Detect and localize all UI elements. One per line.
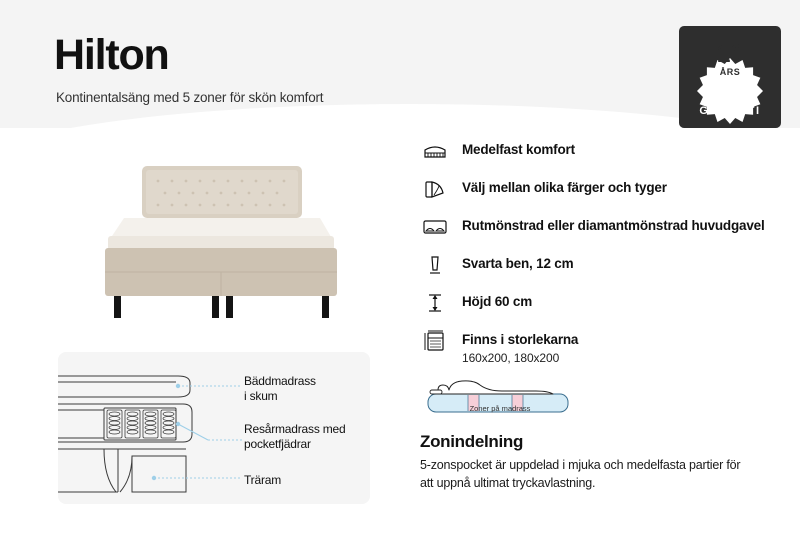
bed-leg-icon xyxy=(422,254,448,276)
feature-label: Svarta ben, 12 cm xyxy=(462,256,573,271)
feature-sublabel: 160x200, 180x200 xyxy=(462,351,578,365)
cross-label-line: Träram xyxy=(244,473,281,487)
zone-section-body: 5-zonspocket är uppdelad i mjuka och med… xyxy=(420,456,750,492)
feature-list: Medelfast komfort Välj mellan olika färg… xyxy=(422,140,782,365)
cross-label-wooden-frame: Träram xyxy=(244,473,281,488)
cross-label-line: Bäddmadrass xyxy=(244,374,316,388)
warranty-years-number: 10 xyxy=(679,40,781,69)
warranty-years-unit: ÅRS xyxy=(679,67,781,77)
feature-item: Medelfast komfort xyxy=(422,140,782,162)
feature-label: Rutmönstrad eller diamantmönstrad huvudg… xyxy=(462,218,765,233)
feature-label: Medelfast komfort xyxy=(462,142,575,157)
cross-label-foam-mattress: Bäddmadrass i skum xyxy=(244,374,316,405)
height-arrow-icon xyxy=(422,292,448,314)
fabric-swatch-icon xyxy=(422,178,448,200)
feature-label: Välj mellan olika färger och tyger xyxy=(462,180,667,195)
feature-item: Höjd 60 cm xyxy=(422,292,782,314)
feature-label: Finns i storlekarna xyxy=(462,332,578,347)
bed-size-icon xyxy=(422,330,448,352)
page-title: Hilton xyxy=(54,34,169,77)
page-subtitle: Kontinentalsäng med 5 zoner för skön kom… xyxy=(56,90,323,105)
cross-label-line: Resårmadrass med xyxy=(244,422,346,436)
feature-item: Välj mellan olika färger och tyger xyxy=(422,178,782,200)
feature-item: Svarta ben, 12 cm xyxy=(422,254,782,276)
cross-label-spring-mattress: Resårmadrass med pocketfjädrar xyxy=(244,422,346,453)
feature-item: Rutmönstrad eller diamantmönstrad huvudg… xyxy=(422,216,782,238)
feature-item: Finns i storlekarna 160x200, 180x200 xyxy=(422,330,782,365)
feature-label: Höjd 60 cm xyxy=(462,294,532,309)
product-photo-bed xyxy=(72,148,372,328)
headboard-icon xyxy=(422,216,448,238)
cross-label-line: i skum xyxy=(244,389,277,403)
warranty-label: GARANTI xyxy=(679,105,781,117)
cross-label-line: pocketfjädrar xyxy=(244,437,311,451)
zone-illustration-caption: Zoner på madrass xyxy=(420,404,580,413)
warranty-badge: 10 ÅRS GARANTI xyxy=(679,26,781,128)
zone-section-heading: Zonindelning xyxy=(420,432,523,452)
zone-mattress-illustration xyxy=(420,364,600,430)
mattress-comfort-icon xyxy=(422,140,448,162)
